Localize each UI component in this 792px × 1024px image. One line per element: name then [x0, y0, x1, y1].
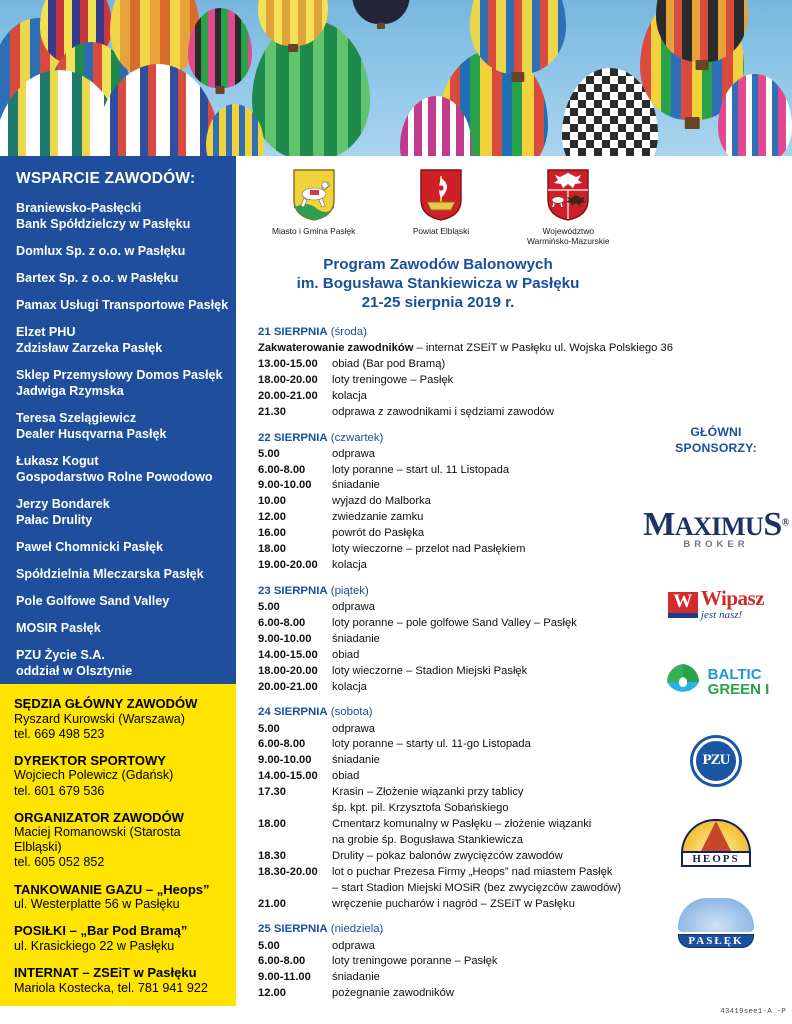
schedule-description: odprawa — [332, 447, 640, 463]
schedule-time: 6.00-8.00 — [258, 616, 332, 632]
schedule-row: 18.00loty wieczorne – przelot nad Pasłęk… — [258, 542, 640, 558]
schedule-row: 18.30Drulity – pokaz balonów zwycięzców … — [258, 849, 640, 865]
official-detail: Wojciech Polewicz (Gdańsk) — [14, 768, 222, 783]
schedule-time: 5.00 — [258, 722, 332, 738]
schedule-row: 17.30Krasin – Złożenie wiązanki przy tab… — [258, 785, 640, 801]
support-item: MOSIR Pasłęk — [16, 621, 220, 637]
schedule-list: 21 SIERPNIA (środa)Zakwaterowanie zawodn… — [236, 312, 640, 1002]
support-item-line: oddział w Olsztynie — [16, 664, 220, 680]
schedule-description: loty wieczorne – przelot nad Pasłękiem — [332, 542, 640, 558]
schedule-time: 5.00 — [258, 939, 332, 955]
support-item-line: MOSIR Pasłęk — [16, 621, 220, 637]
schedule-time: 12.00 — [258, 510, 332, 526]
registered-mark-icon: ® — [782, 518, 789, 529]
schedule-description: obiad — [332, 648, 640, 664]
sponsors-title-line1: GŁÓWNI — [640, 424, 792, 440]
support-item: Pamax Usługi Transportowe Pasłęk — [16, 298, 220, 314]
schedule-row: 20.00-21.00kolacja — [258, 680, 640, 696]
official-block: INTERNAT – ZSEiT w PasłękuMariola Kostec… — [14, 965, 222, 996]
support-item: Braniewsko-PasłęckiBank Spółdzielczy w P… — [16, 201, 220, 233]
crest-caption-line: Województwo — [509, 226, 627, 236]
schedule-time: 17.30 — [258, 785, 332, 801]
crest-caption: WojewództwoWarmińsko-Mazurskie — [509, 226, 627, 247]
schedule-row: 10.00wyjazd do Malborka — [258, 494, 640, 510]
schedule-description: powrót do Pasłęka — [332, 526, 640, 542]
baltic-green-mark-icon — [663, 662, 703, 702]
program-column: Miasto i Gmina Pasłęk Powiat Elbląski — [236, 156, 640, 1024]
schedule-description: wyjazd do Malborka — [332, 494, 640, 510]
maximus-end: S — [763, 506, 781, 543]
program-title-line2: im. Bogusława Stankiewicza w Pasłęku — [240, 274, 636, 293]
support-item: Jerzy BondarekPałac Drulity — [16, 497, 220, 529]
schedule-description: odprawa — [332, 939, 640, 955]
schedule-row: 12.00pożegnanie zawodników — [258, 986, 640, 1002]
coat-of-arms-paslek-icon — [292, 168, 336, 222]
baltic-green-line1: BALTIC — [708, 667, 770, 682]
schedule-row: 9.00-11.00śniadanie — [258, 970, 640, 986]
schedule-time: 10.00 — [258, 494, 332, 510]
support-panel: WSPARCIE ZAWODÓW: Braniewsko-PasłęckiBan… — [0, 156, 236, 684]
schedule-description: Drulity – pokaz balonów zwycięzców zawod… — [332, 849, 640, 865]
heops-logo: HEOPS — [656, 815, 776, 871]
schedule-description: śniadanie — [332, 753, 640, 769]
official-detail: ul. Krasickiego 22 w Pasłęku — [14, 939, 222, 954]
schedule-time: 6.00-8.00 — [258, 463, 332, 479]
crest-warmia-masuria: WojewództwoWarmińsko-Mazurskie — [509, 168, 627, 247]
officials-list: SĘDZIA GŁÓWNY ZAWODÓWRyszard Kurowski (W… — [14, 696, 222, 996]
schedule-day: 24 SIERPNIA (sobota)5.00odprawa6.00-8.00… — [258, 704, 640, 912]
official-detail: tel. 605 052 852 — [14, 855, 222, 870]
schedule-day-heading: 22 SIERPNIA (czwartek) — [258, 430, 640, 447]
schedule-day: 25 SIERPNIA (niedziela)5.00odprawa6.00-8… — [258, 921, 640, 1002]
schedule-row: 5.00odprawa — [258, 447, 640, 463]
official-detail: Maciej Romanowski (Starosta Elbląski) — [14, 825, 222, 855]
crest-paslek: Miasto i Gmina Pasłęk — [255, 168, 373, 236]
support-item-line: Braniewsko-Pasłęcki — [16, 201, 220, 217]
official-block: POSIŁKI – „Bar Pod Bramą”ul. Krasickiego… — [14, 923, 222, 954]
schedule-day-heading: 23 SIERPNIA (piątek) — [258, 583, 640, 600]
official-block: ORGANIZATOR ZAWODÓWMaciej Romanowski (St… — [14, 810, 222, 871]
schedule-time: 18.00 — [258, 817, 332, 833]
pzu-logo: PZU — [656, 735, 776, 787]
schedule-day-date: 22 SIERPNIA — [258, 432, 328, 444]
official-detail: Ryszard Kurowski (Warszawa) — [14, 712, 222, 727]
wipasz-slogan: jest nasz! — [701, 610, 764, 621]
schedule-day-heading: 21 SIERPNIA (środa) — [258, 324, 640, 341]
coat-of-arms-warmia-masuria-icon — [546, 168, 590, 222]
schedule-day: 21 SIERPNIA (środa)Zakwaterowanie zawodn… — [258, 324, 640, 421]
schedule-description: loty wieczorne – Stadion Miejski Pasłęk — [332, 664, 640, 680]
schedule-row: 12.00zwiedzanie zamku — [258, 510, 640, 526]
schedule-row: 9.00-10.00śniadanie — [258, 632, 640, 648]
official-role: ORGANIZATOR ZAWODÓW — [14, 810, 222, 826]
schedule-row: 6.00-8.00loty poranne – start ul. 11 Lis… — [258, 463, 640, 479]
schedule-description: Cmentarz komunalny w Pasłęku – złożenie … — [332, 817, 640, 833]
schedule-time: 20.00-21.00 — [258, 389, 332, 405]
schedule-time: 5.00 — [258, 447, 332, 463]
official-detail: ul. Westerplatte 56 w Pasłęku — [14, 897, 222, 912]
support-item-line: Dealer Husqvarna Pasłęk — [16, 427, 220, 443]
support-panel-title: WSPARCIE ZAWODÓW: — [16, 170, 220, 188]
support-item-line: Łukasz Kogut — [16, 454, 220, 470]
schedule-description: loty poranne – start ul. 11 Listopada — [332, 463, 640, 479]
schedule-time: 18.00 — [258, 542, 332, 558]
support-item-line: Zdzisław Zarzeka Pasłęk — [16, 341, 220, 357]
support-item: Teresa SzelągiewiczDealer Husqvarna Pasł… — [16, 411, 220, 443]
schedule-day-weekday: (niedziela) — [328, 923, 384, 935]
schedule-description: loty treningowe poranne – Pasłęk — [332, 954, 640, 970]
crest-elblag-county: Powiat Elbląski — [382, 168, 500, 236]
schedule-row: 5.00odprawa — [258, 939, 640, 955]
schedule-description: na grobie śp. Bogusława Stankiewicza — [332, 833, 640, 849]
schedule-description: odprawa — [332, 600, 640, 616]
maximus-mid: AXIMU — [675, 512, 764, 541]
schedule-description: Krasin – Złożenie wiązanki przy tablicy — [332, 785, 640, 801]
schedule-time: 9.00-10.00 — [258, 753, 332, 769]
support-item: Spółdzielnia Mleczarska Pasłęk — [16, 567, 220, 583]
paslek-brewery-logo: PASŁĘK — [656, 893, 776, 953]
schedule-description: – start Stadion Miejski MOSiR (bez zwyci… — [332, 881, 640, 897]
official-role: TANKOWANIE GAZU – „Heops” — [14, 882, 222, 898]
schedule-time: 9.00-10.00 — [258, 632, 332, 648]
poster-root: WSPARCIE ZAWODÓW: Braniewsko-PasłęckiBan… — [0, 0, 792, 1024]
left-sidebar: WSPARCIE ZAWODÓW: Braniewsko-PasłęckiBan… — [0, 156, 236, 1006]
schedule-time: 18.30-20.00 — [258, 865, 332, 881]
schedule-row: na grobie śp. Bogusława Stankiewicza — [258, 833, 640, 849]
pzu-mark: PZU — [693, 738, 739, 784]
sponsors-title: GŁÓWNI SPONSORZY: — [640, 424, 792, 457]
schedule-day: 23 SIERPNIA (piątek)5.00odprawa6.00-8.00… — [258, 583, 640, 696]
schedule-description: odprawa z zawodnikami i sędziami zawodów — [332, 405, 640, 421]
schedule-description: odprawa — [332, 722, 640, 738]
program-title-line1: Program Zawodów Balonowych — [240, 255, 636, 274]
schedule-time: 9.00-10.00 — [258, 478, 332, 494]
official-detail: tel. 669 498 523 — [14, 727, 222, 742]
support-item-line: Sklep Przemysłowy Domos Pasłęk — [16, 368, 220, 384]
support-item: Łukasz KogutGospodarstwo Rolne Powodowo — [16, 454, 220, 486]
schedule-description: śp. kpt. pil. Krzysztofa Sobańskiego — [332, 801, 640, 817]
schedule-description: śniadanie — [332, 632, 640, 648]
schedule-row: 6.00-8.00loty poranne – pole golfowe San… — [258, 616, 640, 632]
schedule-description: lot o puchar Prezesa Firmy „Heops” nad m… — [332, 865, 640, 881]
support-item-line: Teresa Szelągiewicz — [16, 411, 220, 427]
support-item-line: PZU Życie S.A. — [16, 648, 220, 664]
schedule-row: 13.00-15.00obiad (Bar pod Bramą) — [258, 357, 640, 373]
schedule-row: 6.00-8.00loty treningowe poranne – Pasłę… — [258, 954, 640, 970]
schedule-row: 14.00-15.00obiad — [258, 648, 640, 664]
schedule-row: 18.30-20.00lot o puchar Prezesa Firmy „H… — [258, 865, 640, 881]
schedule-row: – start Stadion Miejski MOSiR (bez zwyci… — [258, 881, 640, 897]
schedule-description: kolacja — [332, 389, 640, 405]
schedule-time: 14.00-15.00 — [258, 769, 332, 785]
schedule-day-date: 25 SIERPNIA — [258, 923, 328, 935]
balloon-shape — [188, 8, 252, 88]
paslek-crest-icon — [678, 898, 754, 932]
schedule-description: wręczenie pucharów i nagród – ZSEiT w Pa… — [332, 897, 640, 913]
support-item: Bartex Sp. z o.o. w Pasłęku — [16, 271, 220, 287]
schedule-row: 5.00odprawa — [258, 722, 640, 738]
schedule-description: pożegnanie zawodników — [332, 986, 640, 1002]
schedule-row: 16.00powrót do Pasłęka — [258, 526, 640, 542]
official-detail: Mariola Kostecka, tel. 781 941 922 — [14, 981, 222, 996]
baltic-green-line2: GREEN I — [708, 682, 770, 697]
crest-row: Miasto i Gmina Pasłęk Powiat Elbląski — [236, 156, 640, 247]
officials-panel: SĘDZIA GŁÓWNY ZAWODÓWRyszard Kurowski (W… — [0, 684, 236, 1006]
heops-name: HEOPS — [681, 853, 751, 867]
support-item-line: Gospodarstwo Rolne Powodowo — [16, 470, 220, 486]
schedule-day-weekday: (piątek) — [328, 585, 369, 597]
schedule-time: 16.00 — [258, 526, 332, 542]
support-item: PZU Życie S.A.oddział w Olsztynie — [16, 648, 220, 680]
schedule-row: 9.00-10.00śniadanie — [258, 478, 640, 494]
schedule-description: obiad — [332, 769, 640, 785]
wipasz-logo: W Wipasz jest nasz! — [656, 577, 776, 633]
support-item-line: Pole Golfowe Sand Valley — [16, 594, 220, 610]
page-title: Program Zawodów Balonowych im. Bogusława… — [236, 255, 640, 312]
support-item-line: Pamax Usługi Transportowe Pasłęk — [16, 298, 220, 314]
schedule-description: loty poranne – starty ul. 11-go Listopad… — [332, 737, 640, 753]
schedule-row: 6.00-8.00loty poranne – starty ul. 11-go… — [258, 737, 640, 753]
balloon-photo-banner — [0, 0, 792, 156]
support-item: Elzet PHUZdzisław Zarzeka Pasłęk — [16, 325, 220, 357]
support-item-line: Domlux Sp. z o.o. w Pasłęku — [16, 244, 220, 260]
lodging-note: Zakwaterowanie zawodników – internat ZSE… — [258, 341, 640, 357]
schedule-time: 6.00-8.00 — [258, 954, 332, 970]
support-item: Pole Golfowe Sand Valley — [16, 594, 220, 610]
schedule-row: śp. kpt. pil. Krzysztofa Sobańskiego — [258, 801, 640, 817]
schedule-row: 21.30odprawa z zawodnikami i sędziami za… — [258, 405, 640, 421]
sponsors-column: GŁÓWNI SPONSORZY: MAXIMUS® BROKER W Wipa… — [640, 156, 792, 1024]
official-block: DYREKTOR SPORTOWYWojciech Polewicz (Gdań… — [14, 753, 222, 799]
schedule-description: obiad (Bar pod Bramą) — [332, 357, 640, 373]
crest-caption: Powiat Elbląski — [382, 226, 500, 236]
schedule-day-date: 21 SIERPNIA — [258, 326, 328, 338]
wipasz-mark-icon: W — [668, 592, 698, 618]
schedule-time: 18.00-20.00 — [258, 664, 332, 680]
schedule-day-weekday: (sobota) — [328, 706, 373, 718]
crest-caption: Miasto i Gmina Pasłęk — [255, 226, 373, 236]
official-block: SĘDZIA GŁÓWNY ZAWODÓWRyszard Kurowski (W… — [14, 696, 222, 742]
schedule-time: 14.00-15.00 — [258, 648, 332, 664]
balloon-shape — [352, 0, 410, 24]
schedule-row: 5.00odprawa — [258, 600, 640, 616]
schedule-time: 6.00-8.00 — [258, 737, 332, 753]
support-item-line: Jerzy Bondarek — [16, 497, 220, 513]
schedule-description: loty treningowe – Pasłęk — [332, 373, 640, 389]
schedule-time: 19.00-20.00 — [258, 558, 332, 574]
support-item: Paweł Chomnicki Pasłęk — [16, 540, 220, 556]
schedule-day-weekday: (środa) — [328, 326, 367, 338]
schedule-day: 22 SIERPNIA (czwartek)5.00odprawa6.00-8.… — [258, 430, 640, 574]
print-code: 43419see1-A -P — [720, 1008, 786, 1016]
schedule-description: loty poranne – pole golfowe Sand Valley … — [332, 616, 640, 632]
wipasz-name: Wipasz — [701, 588, 764, 609]
official-detail: tel. 601 679 536 — [14, 784, 222, 799]
official-role: DYREKTOR SPORTOWY — [14, 753, 222, 769]
schedule-description: śniadanie — [332, 970, 640, 986]
maximus-broker-logo: MAXIMUS® BROKER — [656, 507, 776, 551]
support-item-line: Paweł Chomnicki Pasłęk — [16, 540, 220, 556]
sponsors-title-line2: SPONSORZY: — [640, 440, 792, 456]
support-item-line: Bartex Sp. z o.o. w Pasłęku — [16, 271, 220, 287]
schedule-row: 21.00wręczenie pucharów i nagród – ZSEiT… — [258, 897, 640, 913]
schedule-time: 21.00 — [258, 897, 332, 913]
schedule-time: 13.00-15.00 — [258, 357, 332, 373]
paslek-name: PASŁĘK — [678, 934, 754, 948]
support-item-line: Bank Spółdzielczy w Pasłęku — [16, 217, 220, 233]
support-list: Braniewsko-PasłęckiBank Spółdzielczy w P… — [16, 201, 220, 680]
schedule-time: 18.00-20.00 — [258, 373, 332, 389]
schedule-row: 14.00-15.00obiad — [258, 769, 640, 785]
schedule-row: 20.00-21.00kolacja — [258, 389, 640, 405]
support-item-line: Jadwiga Rzymska — [16, 384, 220, 400]
schedule-row: 9.00-10.00śniadanie — [258, 753, 640, 769]
schedule-row: 18.00-20.00loty wieczorne – Stadion Miej… — [258, 664, 640, 680]
schedule-day-heading: 25 SIERPNIA (niedziela) — [258, 921, 640, 938]
support-item-line: Spółdzielnia Mleczarska Pasłęk — [16, 567, 220, 583]
schedule-day-heading: 24 SIERPNIA (sobota) — [258, 704, 640, 721]
official-role: POSIŁKI – „Bar Pod Bramą” — [14, 923, 222, 939]
schedule-description: śniadanie — [332, 478, 640, 494]
heops-arch-icon — [681, 819, 751, 853]
baltic-green-logo: BALTIC GREEN I — [656, 655, 776, 709]
schedule-day-date: 23 SIERPNIA — [258, 585, 328, 597]
support-item: Sklep Przemysłowy Domos PasłękJadwiga Rz… — [16, 368, 220, 400]
maximus-initial: M — [643, 506, 675, 543]
program-title-line3: 21-25 sierpnia 2019 r. — [240, 293, 636, 312]
schedule-time: 18.30 — [258, 849, 332, 865]
schedule-time: 12.00 — [258, 986, 332, 1002]
support-item-line: Elzet PHU — [16, 325, 220, 341]
schedule-description: zwiedzanie zamku — [332, 510, 640, 526]
support-item: Domlux Sp. z o.o. w Pasłęku — [16, 244, 220, 260]
official-role: INTERNAT – ZSEiT w Pasłęku — [14, 965, 222, 981]
schedule-time: 9.00-11.00 — [258, 970, 332, 986]
crest-caption-line: Warmińsko-Mazurskie — [509, 236, 627, 246]
coat-of-arms-elblag-county-icon — [419, 168, 463, 222]
schedule-day-weekday: (czwartek) — [328, 432, 384, 444]
schedule-time: 21.30 — [258, 405, 332, 421]
official-block: TANKOWANIE GAZU – „Heops”ul. Westerplatt… — [14, 882, 222, 913]
schedule-row: 18.00-20.00loty treningowe – Pasłęk — [258, 373, 640, 389]
official-role: SĘDZIA GŁÓWNY ZAWODÓW — [14, 696, 222, 712]
schedule-day-date: 24 SIERPNIA — [258, 706, 328, 718]
schedule-row: 19.00-20.00kolacja — [258, 558, 640, 574]
support-item-line: Pałac Drulity — [16, 513, 220, 529]
schedule-description: kolacja — [332, 680, 640, 696]
schedule-time: 5.00 — [258, 600, 332, 616]
schedule-row: 18.00Cmentarz komunalny w Pasłęku – złoż… — [258, 817, 640, 833]
schedule-description: kolacja — [332, 558, 640, 574]
schedule-time: 20.00-21.00 — [258, 680, 332, 696]
